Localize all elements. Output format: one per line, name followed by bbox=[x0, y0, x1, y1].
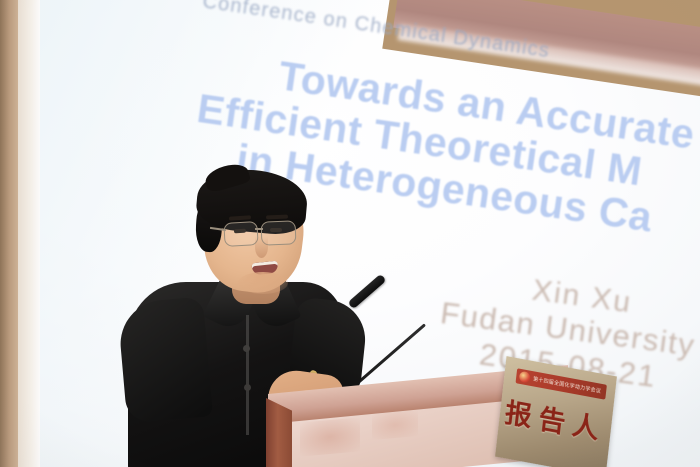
conference-photo: Conference on Chemical Dynamics Towards … bbox=[0, 0, 700, 467]
podium-texture-right bbox=[372, 410, 418, 440]
speaker-chin bbox=[238, 272, 288, 294]
podium-left-edge bbox=[266, 398, 292, 467]
speaker-nose bbox=[255, 236, 268, 258]
speaker-left-shoulder bbox=[117, 296, 213, 423]
glasses-bridge bbox=[255, 228, 263, 230]
conference-logo-icon bbox=[519, 371, 531, 384]
glasses-lens-left bbox=[223, 221, 258, 247]
podium-texture-left bbox=[300, 417, 360, 456]
shirt-button-lower bbox=[244, 384, 251, 391]
plaque-banner-text: 第十四届全国化学动力学会议 bbox=[533, 375, 602, 395]
podium-plaque: 第十四届全国化学动力学会议 报告人 bbox=[495, 356, 617, 467]
shirt-button-upper bbox=[243, 345, 250, 352]
shirt-placket bbox=[246, 315, 249, 435]
speaker-eyebrow-right bbox=[266, 215, 288, 220]
plaque-title: 报告人 bbox=[498, 390, 613, 449]
